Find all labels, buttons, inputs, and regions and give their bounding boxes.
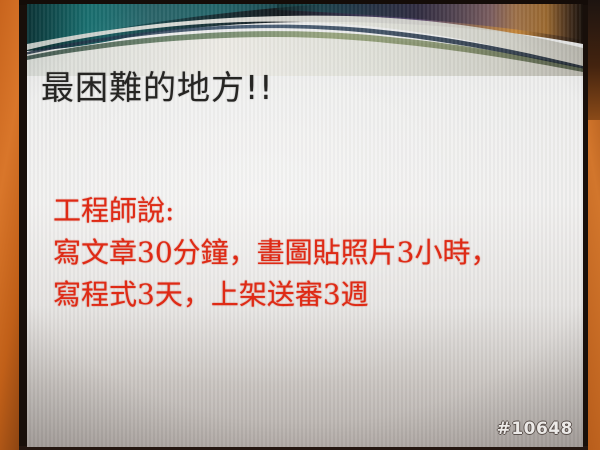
body-line-3: 寫程式3天，上架送審3週 [53,274,563,316]
wall-frame-left [0,0,19,450]
presentation-slide: 最困難的地方!! 工程師說: 寫文章30分鐘，畫圖貼照片3小時， 寫程式3天，上… [27,4,583,447]
projected-slide-photo: 最困難的地方!! 工程師說: 寫文章30分鐘，畫圖貼照片3小時， 寫程式3天，上… [0,0,600,450]
slide-title: 最困難的地方!! [41,66,561,110]
slide-body: 工程師說: 寫文章30分鐘，畫圖貼照片3小時， 寫程式3天，上架送審3週 [53,190,563,316]
body-line-2: 寫文章30分鐘，畫圖貼照片3小時， [53,232,563,274]
wall-frame-right-shadow [588,0,600,120]
image-watermark: #10648 [497,419,573,439]
body-line-1: 工程師說: [53,190,563,232]
